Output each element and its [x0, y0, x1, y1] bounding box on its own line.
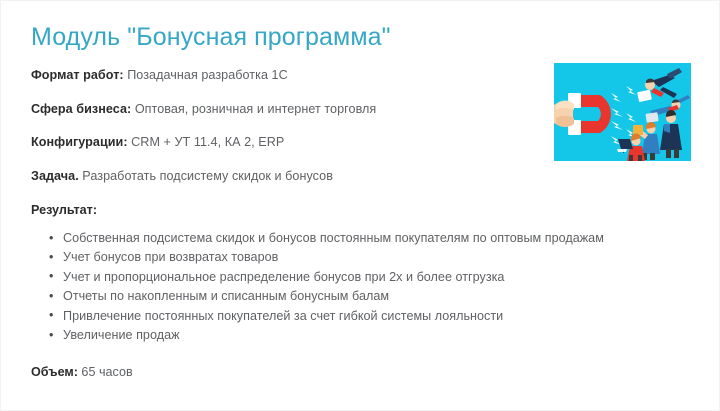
- list-item: Собственная подсистема скидок и бонусов …: [48, 229, 604, 248]
- list-item: Привлечение постоянных покупателей за сч…: [48, 307, 604, 326]
- result-section-label: Результат:: [31, 203, 97, 217]
- meta-value-task: Разработать подсистему скидок и бонусов: [79, 169, 333, 183]
- meta-value-sphere: Оптовая, розничная и интернет торговля: [131, 102, 376, 116]
- meta-row-format: Формат работ: Позадачная разработка 1С: [31, 68, 288, 82]
- volume-value: 65 часов: [78, 365, 133, 379]
- meta-row-configurations: Конфигурации: CRM + УТ 11.4, КА 2, ERP: [31, 135, 284, 149]
- result-list: Собственная подсистема скидок и бонусов …: [48, 229, 604, 345]
- list-item: Учет и пропорциональное распределение бо…: [48, 268, 604, 287]
- slide-canvas: Модуль "Бонусная программа" Формат работ…: [0, 0, 720, 411]
- magnet-attracting-customers-illustration: [554, 63, 691, 161]
- meta-label-configurations: Конфигурации:: [31, 135, 128, 149]
- avito-watermark-text: Avito: [651, 374, 701, 398]
- avito-logo-icon: [628, 373, 648, 398]
- meta-value-format: Позадачная разработка 1С: [124, 68, 288, 82]
- list-item: Увеличение продаж: [48, 326, 604, 345]
- meta-label-task: Задача.: [31, 169, 79, 183]
- meta-label-format: Формат работ:: [31, 68, 124, 82]
- meta-row-task: Задача. Разработать подсистему скидок и …: [31, 169, 333, 183]
- page-title: Модуль "Бонусная программа": [31, 23, 391, 52]
- avito-watermark: Avito: [628, 373, 701, 398]
- volume-label: Объем:: [31, 365, 78, 379]
- meta-row-sphere: Сфера бизнеса: Оптовая, розничная и инте…: [31, 102, 376, 116]
- list-item: Отчеты по накопленным и списанным бонусн…: [48, 287, 604, 306]
- volume-row: Объем: 65 часов: [31, 365, 133, 379]
- meta-value-configurations: CRM + УТ 11.4, КА 2, ERP: [128, 135, 285, 149]
- meta-label-sphere: Сфера бизнеса:: [31, 102, 131, 116]
- list-item: Учет бонусов при возвратах товаров: [48, 248, 604, 267]
